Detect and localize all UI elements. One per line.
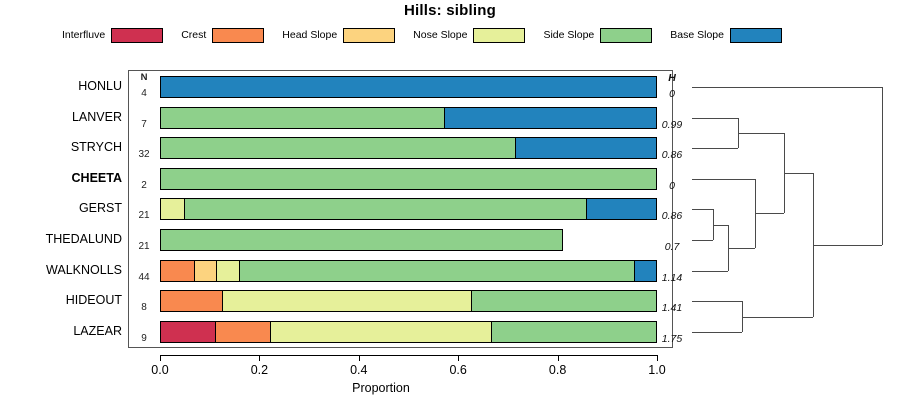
legend-item-crest: Crest [181, 28, 264, 43]
bar-segment-base-slope [515, 137, 657, 159]
x-axis-tick [458, 355, 459, 361]
dendrogram-link [784, 173, 813, 174]
stacked-bar-hideout [160, 290, 657, 312]
legend-swatch-icon [473, 28, 525, 43]
row-n-value: 21 [131, 241, 157, 252]
bar-segment-nose-slope [222, 290, 471, 312]
bar-segment-base-slope [160, 76, 657, 98]
bar-segment-side-slope [160, 137, 515, 159]
row-n-value: 21 [131, 210, 157, 221]
dendrogram-link [742, 317, 813, 318]
stacked-bar-walknolls [160, 260, 657, 282]
bar-segment-interfluve [160, 321, 215, 343]
row-label-gerst: GERST [0, 201, 122, 215]
dendrogram-link [882, 87, 883, 245]
x-axis-tick [657, 355, 658, 361]
x-axis-tick [558, 355, 559, 361]
bar-segment-nose-slope [216, 260, 238, 282]
row-label-strych: STRYCH [0, 140, 122, 154]
row-n-value: 4 [131, 88, 157, 99]
legend-item-head-slope: Head Slope [282, 28, 395, 43]
legend-item-side-slope: Side Slope [543, 28, 652, 43]
dendrogram-link [692, 240, 713, 241]
dendrogram-link [692, 118, 738, 119]
bar-segment-head-slope [194, 260, 216, 282]
dendrogram-link [692, 209, 713, 210]
row-n-value: 2 [131, 180, 157, 191]
dendrogram-link [692, 148, 738, 149]
bar-segment-nose-slope [160, 198, 184, 220]
dendrogram-link [813, 245, 882, 246]
row-n-value: 8 [131, 302, 157, 313]
legend-swatch-icon [600, 28, 652, 43]
legend: InterfluveCrestHead SlopeNose SlopeSide … [62, 26, 762, 44]
x-axis-tick-label: 0.0 [140, 363, 180, 377]
bar-segment-crest [215, 321, 270, 343]
stacked-bar-honlu [160, 76, 657, 98]
stacked-bar-gerst [160, 198, 657, 220]
x-axis-tick-label: 1.0 [637, 363, 677, 377]
stacked-bar-lazear [160, 321, 657, 343]
row-n-value: 9 [131, 333, 157, 344]
legend-swatch-icon [111, 28, 163, 43]
row-label-thedalund: THEDALUND [0, 232, 122, 246]
legend-swatch-icon [730, 28, 782, 43]
bar-segment-side-slope [160, 229, 563, 251]
legend-item-label: Crest [181, 29, 206, 41]
dendrogram-link [692, 179, 755, 180]
n-column-header: N [131, 72, 157, 83]
stacked-bar-lanver [160, 107, 657, 129]
legend-item-label: Base Slope [670, 29, 724, 41]
chart-root: Hills: sibling InterfluveCrestHead Slope… [0, 0, 900, 420]
dendrogram-link [728, 248, 755, 249]
legend-item-label: Interfluve [62, 29, 105, 41]
legend-swatch-icon [212, 28, 264, 43]
x-axis-tick [259, 355, 260, 361]
bar-segment-side-slope [471, 290, 657, 312]
legend-item-nose-slope: Nose Slope [413, 28, 525, 43]
legend-item-interfluve: Interfluve [62, 28, 163, 43]
row-label-lanver: LANVER [0, 110, 122, 124]
bar-segment-side-slope [160, 168, 657, 190]
row-label-honlu: HONLU [0, 79, 122, 93]
row-label-cheeta: CHEETA [0, 171, 122, 185]
legend-item-label: Head Slope [282, 29, 337, 41]
x-axis-line [160, 355, 657, 356]
x-axis-tick [160, 355, 161, 361]
x-axis-title: Proportion [281, 381, 481, 395]
row-n-value: 7 [131, 119, 157, 130]
bar-segment-crest [160, 260, 194, 282]
legend-item-label: Side Slope [543, 29, 594, 41]
stacked-bar-strych [160, 137, 657, 159]
dendrogram-link [755, 213, 784, 214]
row-n-value: 32 [131, 149, 157, 160]
bar-segment-nose-slope [270, 321, 491, 343]
dendrogram-link [692, 87, 882, 88]
page-title: Hills: sibling [0, 2, 900, 19]
stacked-bar-cheeta [160, 168, 657, 190]
dendrogram-link [738, 133, 784, 134]
bar-segment-side-slope [184, 198, 586, 220]
bar-segment-base-slope [586, 198, 657, 220]
x-axis-tick-label: 0.6 [438, 363, 478, 377]
dendrogram-link [692, 332, 742, 333]
row-n-value: 44 [131, 272, 157, 283]
x-axis-tick-label: 0.2 [239, 363, 279, 377]
bar-segment-base-slope [444, 107, 657, 129]
bar-segment-crest [160, 290, 222, 312]
dendrogram-link [713, 225, 728, 226]
row-label-walknolls: WALKNOLLS [0, 263, 122, 277]
x-axis-tick-label: 0.4 [339, 363, 379, 377]
x-axis-tick [359, 355, 360, 361]
legend-item-label: Nose Slope [413, 29, 467, 41]
dendrogram-link [692, 271, 728, 272]
dendrogram-link [692, 301, 742, 302]
legend-item-base-slope: Base Slope [670, 28, 782, 43]
bar-segment-side-slope [239, 260, 634, 282]
row-label-hideout: HIDEOUT [0, 293, 122, 307]
bar-segment-side-slope [491, 321, 657, 343]
bar-segment-side-slope [160, 107, 444, 129]
dendrogram [676, 70, 900, 348]
legend-swatch-icon [343, 28, 395, 43]
x-axis-tick-label: 0.8 [538, 363, 578, 377]
bar-segment-base-slope [634, 260, 657, 282]
stacked-bar-thedalund [160, 229, 563, 251]
row-label-lazear: LAZEAR [0, 324, 122, 338]
